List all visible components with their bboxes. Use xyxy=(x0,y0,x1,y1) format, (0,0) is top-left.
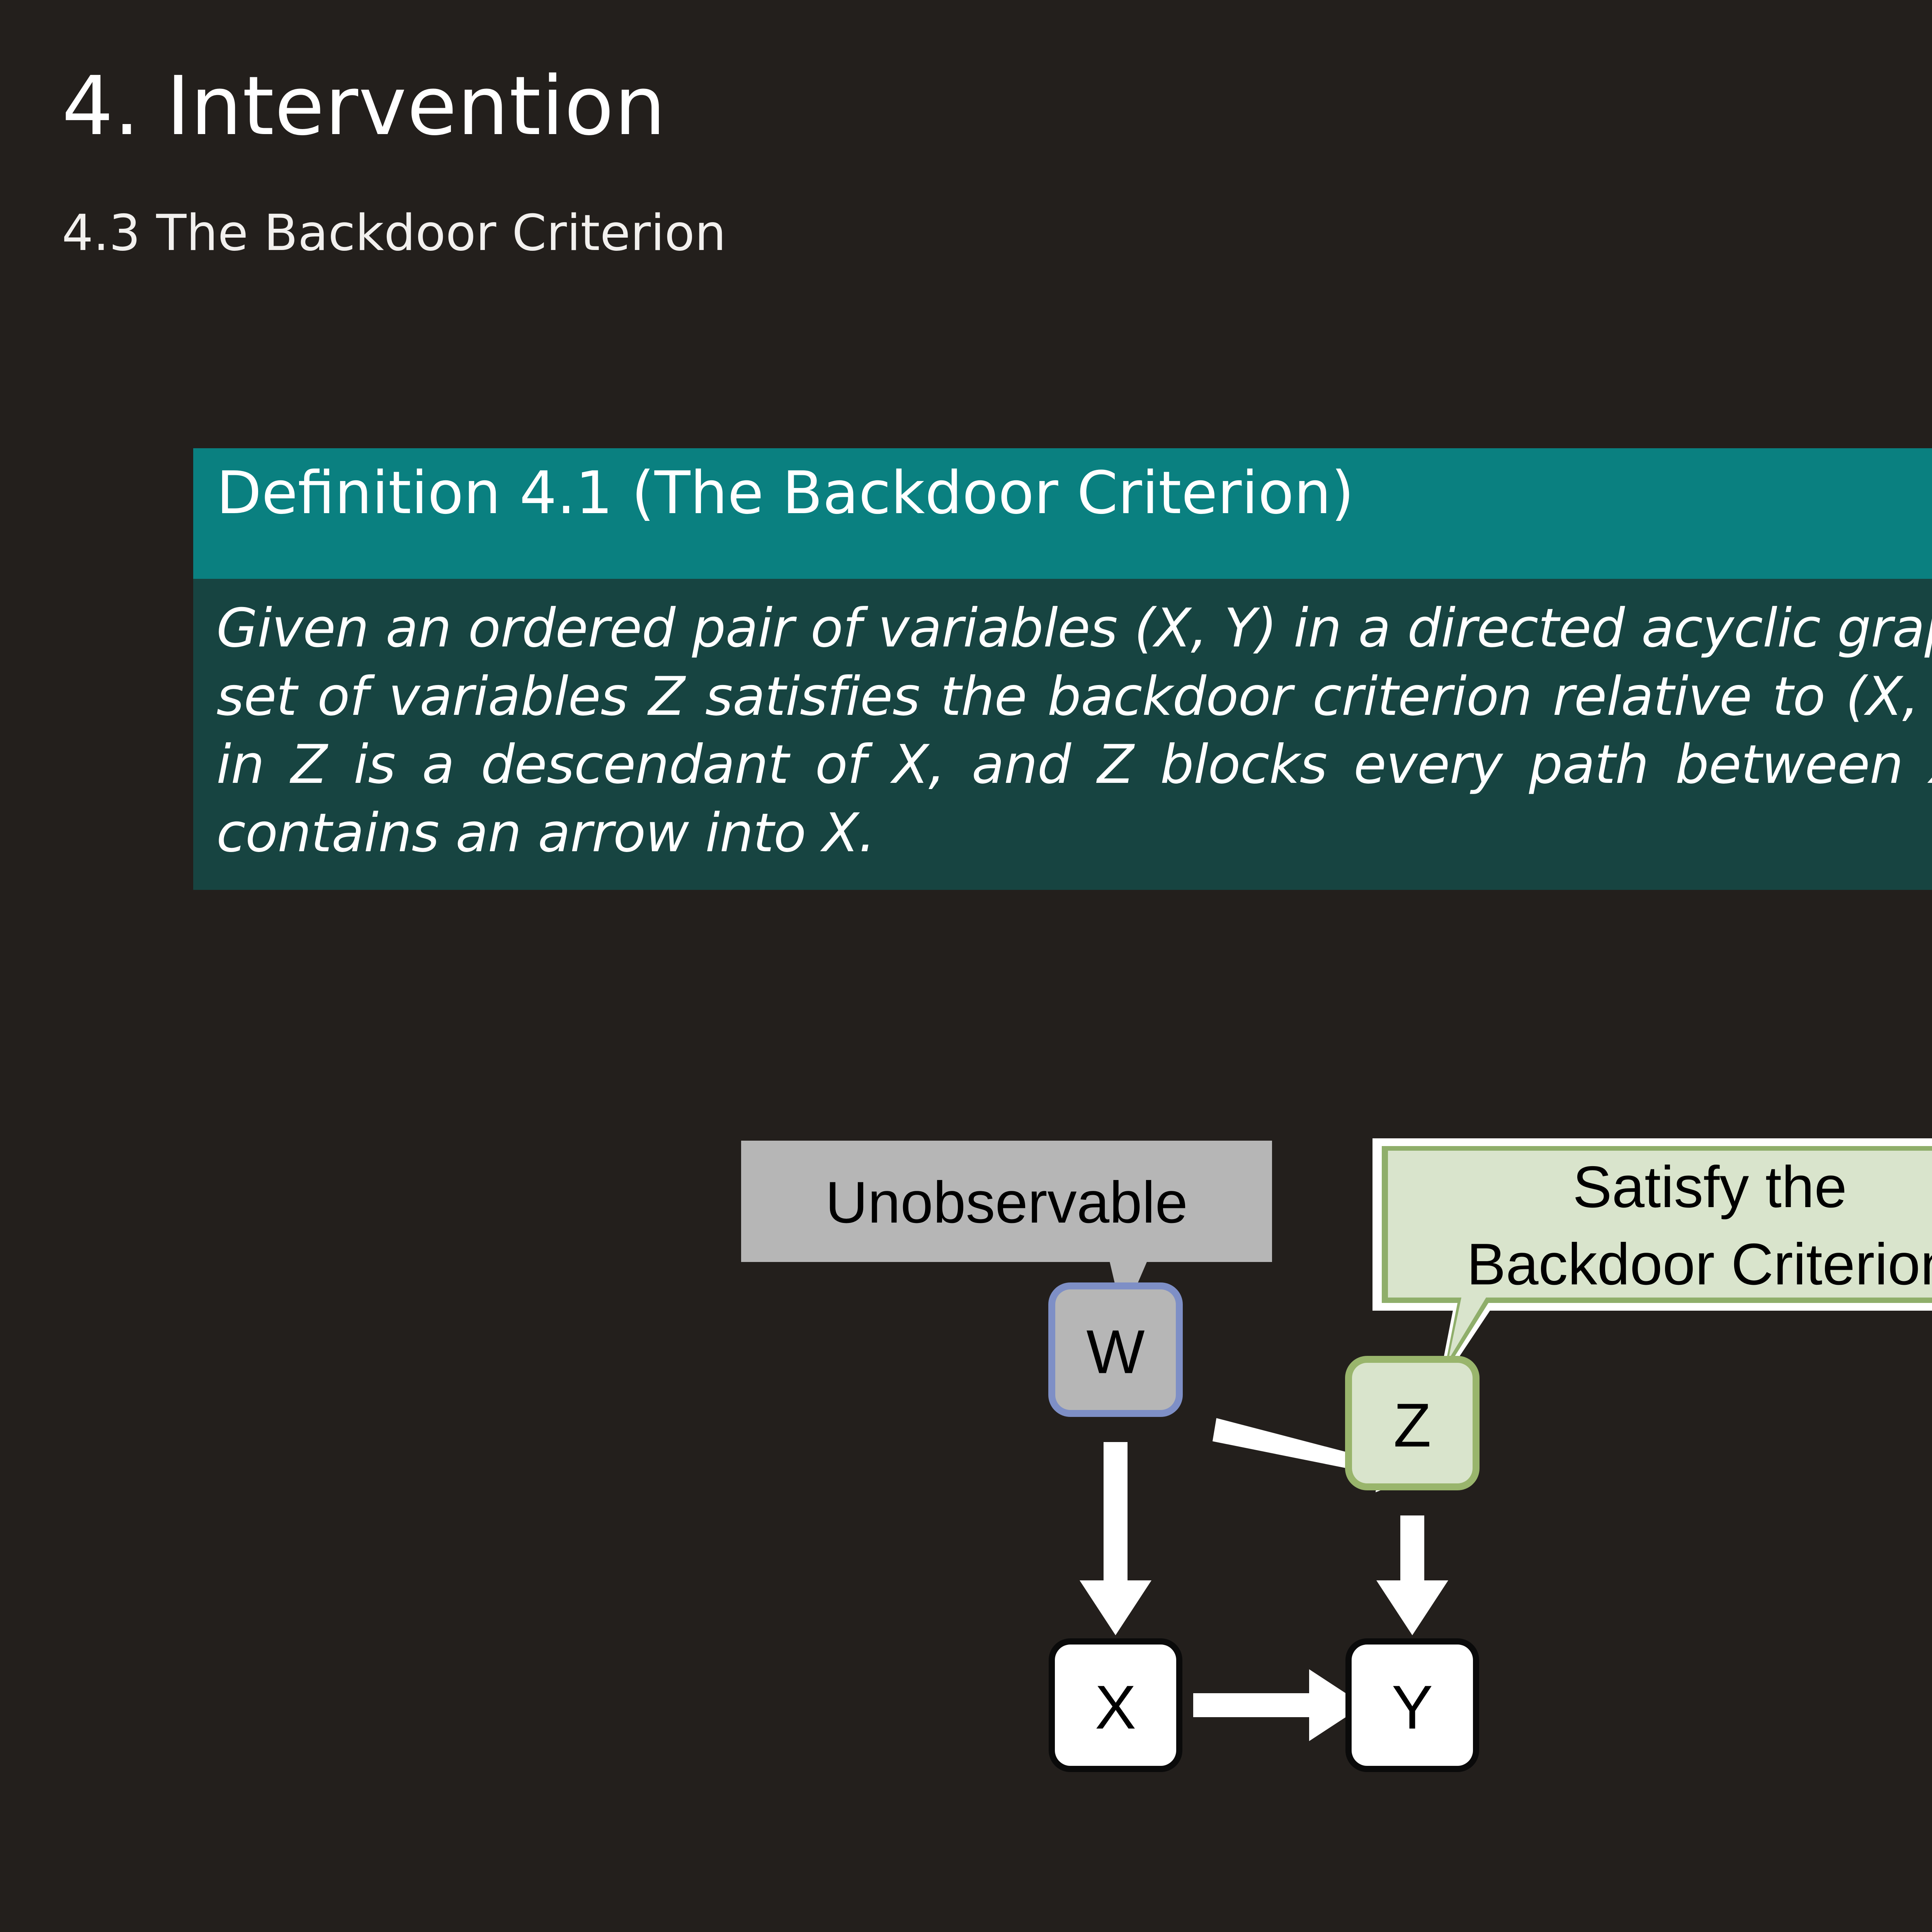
dag-node-Y[interactable]: Y xyxy=(1349,1641,1476,1769)
definition-title: Definition 4.1 (The Backdoor Criterion) xyxy=(216,462,1932,524)
dag-node-Y-label: Y xyxy=(1392,1673,1433,1742)
dag-node-Z-label: Z xyxy=(1393,1391,1431,1460)
dag-node-W[interactable]: W xyxy=(1052,1286,1179,1413)
definition-block: Definition 4.1 (The Backdoor Criterion) … xyxy=(193,448,1932,890)
causal-dag-diagram: W Z X Y Unobservable Satisfy the Backdoo… xyxy=(0,1113,1932,1924)
callout-satisfy-line1: Satisfy the xyxy=(1573,1154,1847,1220)
dag-node-X-label: X xyxy=(1095,1673,1136,1742)
definition-text: Given an ordered pair of variables (X, Y… xyxy=(216,594,1932,867)
callout-satisfy-line2: Backdoor Criterion xyxy=(1467,1231,1932,1297)
definition-body: Given an ordered pair of variables (X, Y… xyxy=(193,579,1932,890)
dag-node-X[interactable]: X xyxy=(1052,1641,1179,1769)
page-title: 4. Intervention xyxy=(62,66,666,147)
definition-header: Definition 4.1 (The Backdoor Criterion) xyxy=(193,448,1932,579)
dag-node-W-label: W xyxy=(1086,1317,1145,1386)
callout-unobservable-label: Unobservable xyxy=(825,1170,1188,1235)
subsection-title: 4.3 The Backdoor Criterion xyxy=(62,209,726,258)
dag-node-Z[interactable]: Z xyxy=(1349,1359,1476,1487)
